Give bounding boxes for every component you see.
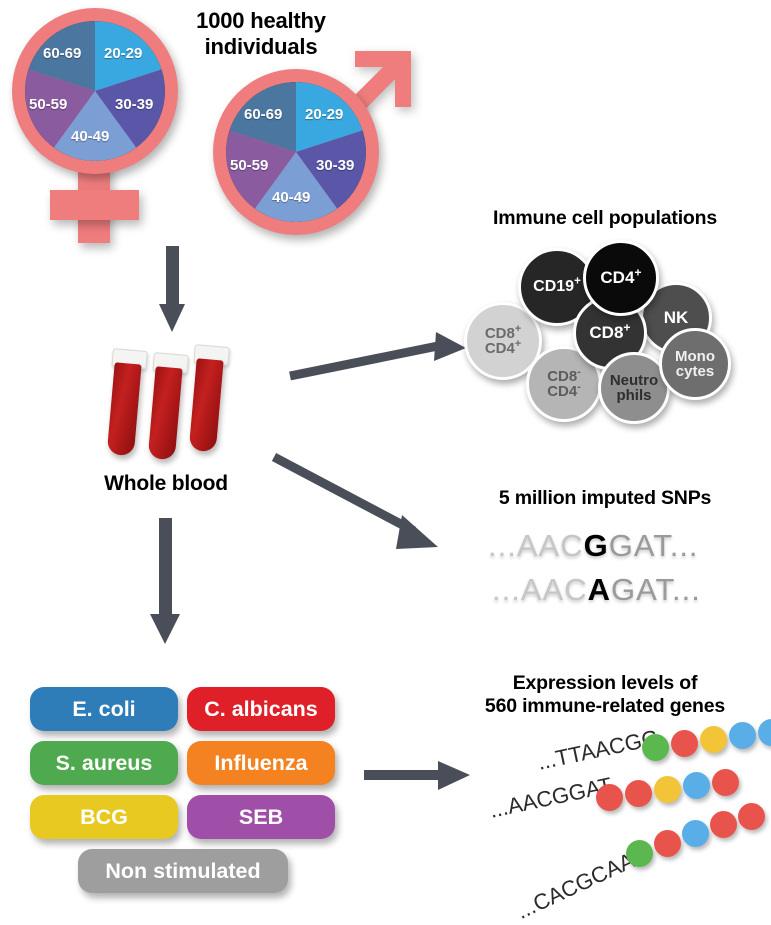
snp-prefix: ...AAC (492, 572, 588, 607)
expression-bead (654, 830, 681, 857)
immune-cell-monocytes: Monocytes (659, 328, 731, 400)
snp-sequences: ...AACGGAT... ...AACAGAT... (460, 528, 760, 618)
expression-bead (682, 820, 709, 847)
male-age-label-40-49: 40-49 (272, 189, 310, 206)
stimulus-e-coli[interactable]: E. coli (30, 687, 178, 731)
expression-bead (654, 776, 681, 803)
stimulus-c-albicans[interactable]: C. albicans (187, 687, 335, 731)
immune-cell-label: CD4+ (600, 269, 641, 286)
stimulus-label: Influenza (214, 751, 307, 776)
immune-cell-label: CD8-CD4- (547, 369, 581, 400)
stimuli-panel: E. coli C. albicans S. aureus Influenza … (30, 687, 340, 887)
stimulus-s-aureus[interactable]: S. aureus (30, 741, 178, 785)
whole-blood-label: Whole blood (60, 472, 272, 497)
immune-cell-cluster: CD8+CD4+ CD19+ CD4+ NK CD8+ CD8-CD4- Neu… (460, 240, 760, 425)
expression-bead (710, 811, 737, 838)
expression-bead (626, 840, 653, 867)
stimulus-label: S. aureus (56, 751, 153, 776)
male-age-label-20-29: 20-29 (305, 106, 343, 123)
blood-tubes (112, 338, 252, 463)
stimulus-influenza[interactable]: Influenza (187, 741, 335, 785)
expression-bead (625, 780, 652, 807)
female-age-label-50-59: 50-59 (29, 96, 67, 113)
male-age-label-50-59: 50-59 (230, 157, 268, 174)
expression-bead (758, 719, 771, 746)
stimulus-label: E. coli (72, 697, 135, 722)
snp-prefix: ...AAC (488, 528, 584, 563)
immune-cell-label: Monocytes (675, 349, 715, 380)
arrow-shaft (159, 518, 172, 618)
expression-bead (729, 722, 756, 749)
expression-bead (671, 730, 698, 757)
arrow-blood-to-stimuli (148, 518, 184, 646)
female-symbol: 20-29 30-39 40-49 50-59 60-69 (12, 8, 197, 248)
female-age-label-60-69: 60-69 (43, 45, 81, 62)
snp-allele-row: ...AACAGAT... (492, 572, 701, 608)
immune-cell-cd4pos: CD4+ (583, 240, 659, 316)
gene-strand-sequence: ...CACGCAA (513, 847, 639, 924)
expression-bead (738, 803, 765, 830)
expression-title-line1: Expression levels of (440, 672, 770, 695)
snp-variant-base: G (584, 528, 609, 563)
female-age-label-20-29: 20-29 (104, 45, 142, 62)
tube-body (148, 366, 183, 460)
immune-cell-label: CD8+ (589, 324, 630, 341)
female-age-label-30-39: 30-39 (115, 96, 153, 113)
expression-bead (642, 734, 669, 761)
stimulus-bcg[interactable]: BCG (30, 795, 178, 839)
female-age-label-40-49: 40-49 (71, 128, 109, 145)
expression-section-title: Expression levels of 560 immune-related … (440, 672, 770, 718)
arrow-cohort-to-blood (155, 246, 189, 334)
expression-bead (596, 784, 623, 811)
snp-suffix: GAT... (611, 572, 701, 607)
tube-body (189, 358, 224, 452)
immune-section-title: Immune cell populations (440, 207, 770, 230)
expression-bead (700, 726, 727, 753)
stimulus-label: C. albicans (204, 697, 318, 722)
immune-cell-label: CD19+ (533, 279, 581, 295)
snp-allele-row: ...AACGGAT... (488, 528, 699, 564)
female-symbol-crossbar (50, 190, 139, 220)
arrow-stimuli-to-expression (364, 757, 474, 793)
arrow-head (150, 614, 180, 644)
arrow-blood-to-snps (272, 455, 462, 565)
arrow-shaft (166, 246, 179, 308)
tube-body (107, 362, 142, 456)
male-age-label-30-39: 30-39 (316, 157, 354, 174)
snp-variant-base: A (588, 572, 611, 607)
arrow-blood-to-immune (288, 330, 478, 385)
immune-cell-label: NK (664, 309, 689, 326)
arrow-head (159, 304, 185, 332)
snps-section-title: 5 million imputed SNPs (440, 487, 770, 510)
male-age-label-60-69: 60-69 (244, 106, 282, 123)
stimulus-label: Non stimulated (105, 859, 260, 884)
expression-bead (683, 772, 710, 799)
stimulus-label: BCG (80, 805, 128, 830)
immune-cell-label: CD8+CD4+ (485, 326, 521, 357)
immune-cell-label: Neutrophils (610, 373, 658, 404)
snp-suffix: GAT... (609, 528, 699, 563)
stimulus-seb[interactable]: SEB (187, 795, 335, 839)
expression-bead (712, 769, 739, 796)
male-symbol: 20-29 30-39 40-49 50-59 60-69 (205, 45, 425, 245)
expression-title-line2: 560 immune-related genes (440, 695, 770, 718)
expression-strands: ...TTAACGG ...AACGGAT ...CACGCAA (460, 740, 770, 920)
stimulus-label: SEB (239, 805, 283, 830)
stimulus-non-stimulated[interactable]: Non stimulated (78, 849, 288, 893)
